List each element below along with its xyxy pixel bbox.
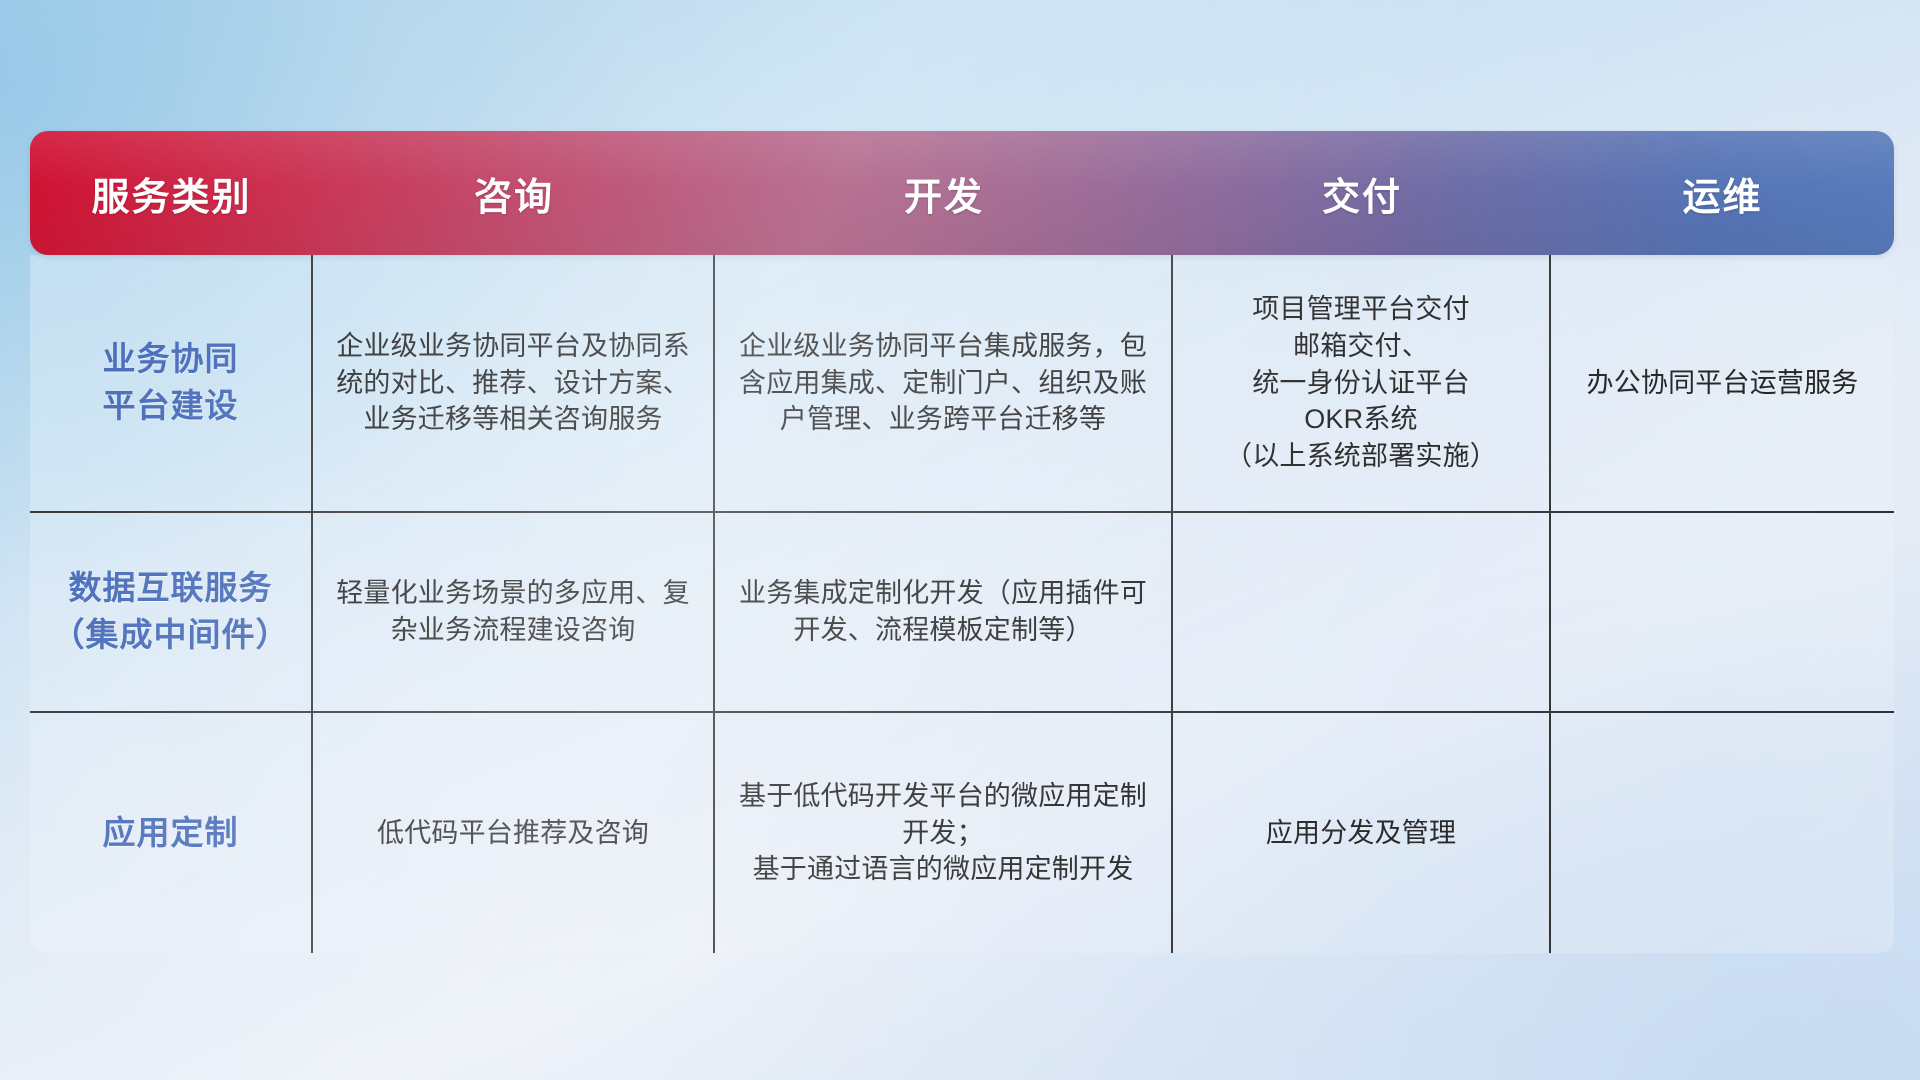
cell-text: 数据互联服务 （集成中间件） [52,565,290,659]
cell-operations-row2 [1551,513,1894,711]
cell-text: 业务协同 平台建设 [103,336,239,430]
cell-text: 轻量化业务场景的多应用、复杂业务流程建设咨询 [327,575,699,648]
row-label-data-interconnect: 数据互联服务 （集成中间件） [30,513,313,711]
header-consulting-label: 咨询 [474,166,554,221]
cell-text: 企业级业务协同平台及协同系统的对比、推荐、设计方案、业务迁移等相关咨询服务 [327,328,699,438]
table-row: 业务协同 平台建设 企业级业务协同平台及协同系统的对比、推荐、设计方案、业务迁移… [30,255,1894,513]
cell-text: 企业级业务协同平台集成服务，包含应用集成、定制门户、组织及账户管理、业务跨平台迁… [729,328,1157,438]
cell-delivery-row1: 项目管理平台交付 邮箱交付、 统一身份认证平台 OKR系统 （以上系统部署实施） [1173,255,1551,511]
cell-operations-row1: 办公协同平台运营服务 [1551,255,1894,511]
cell-operations-row3 [1551,713,1894,953]
row-label-app-customization: 应用定制 [30,713,313,953]
header-consulting: 咨询 [313,131,715,255]
header-development-label: 开发 [904,166,984,221]
cell-text: 业务集成定制化开发（应用插件可开发、流程模板定制等） [729,575,1157,648]
header-operations-label: 运维 [1682,166,1762,221]
header-delivery-label: 交付 [1322,166,1402,221]
cell-development-row3: 基于低代码开发平台的微应用定制开发； 基于通过语言的微应用定制开发 [715,713,1173,953]
cell-development-row1: 企业级业务协同平台集成服务，包含应用集成、定制门户、组织及账户管理、业务跨平台迁… [715,255,1173,511]
cell-delivery-row3: 应用分发及管理 [1173,713,1551,953]
slide-canvas: 服务类别 咨询 开发 交付 运维 业务协同 平台建设 [0,0,1920,1080]
cell-text: 办公协同平台运营服务 [1587,365,1859,402]
cell-text: 应用分发及管理 [1266,815,1456,852]
table-body: 业务协同 平台建设 企业级业务协同平台及协同系统的对比、推荐、设计方案、业务迁移… [30,255,1894,953]
row-label-business-collaboration: 业务协同 平台建设 [30,255,313,511]
table-row: 应用定制 低代码平台推荐及咨询 基于低代码开发平台的微应用定制开发； 基于通过语… [30,713,1894,953]
cell-consulting-row1: 企业级业务协同平台及协同系统的对比、推荐、设计方案、业务迁移等相关咨询服务 [313,255,715,511]
cell-text: 低代码平台推荐及咨询 [377,815,649,852]
header-development: 开发 [715,131,1173,255]
cell-text: 基于低代码开发平台的微应用定制开发； 基于通过语言的微应用定制开发 [729,778,1157,888]
header-delivery: 交付 [1173,131,1551,255]
service-matrix-table: 服务类别 咨询 开发 交付 运维 业务协同 平台建设 [30,131,1894,953]
cell-consulting-row2: 轻量化业务场景的多应用、复杂业务流程建设咨询 [313,513,715,711]
header-service-category-label: 服务类别 [91,166,251,221]
cell-delivery-row2 [1173,513,1551,711]
header-service-category: 服务类别 [30,131,313,255]
cell-development-row2: 业务集成定制化开发（应用插件可开发、流程模板定制等） [715,513,1173,711]
cell-text: 应用定制 [103,810,239,857]
table-row: 数据互联服务 （集成中间件） 轻量化业务场景的多应用、复杂业务流程建设咨询 业务… [30,513,1894,713]
cell-consulting-row3: 低代码平台推荐及咨询 [313,713,715,953]
header-operations: 运维 [1551,131,1894,255]
table-header-row: 服务类别 咨询 开发 交付 运维 [30,131,1894,255]
cell-text: 项目管理平台交付 邮箱交付、 统一身份认证平台 OKR系统 （以上系统部署实施） [1225,291,1497,475]
